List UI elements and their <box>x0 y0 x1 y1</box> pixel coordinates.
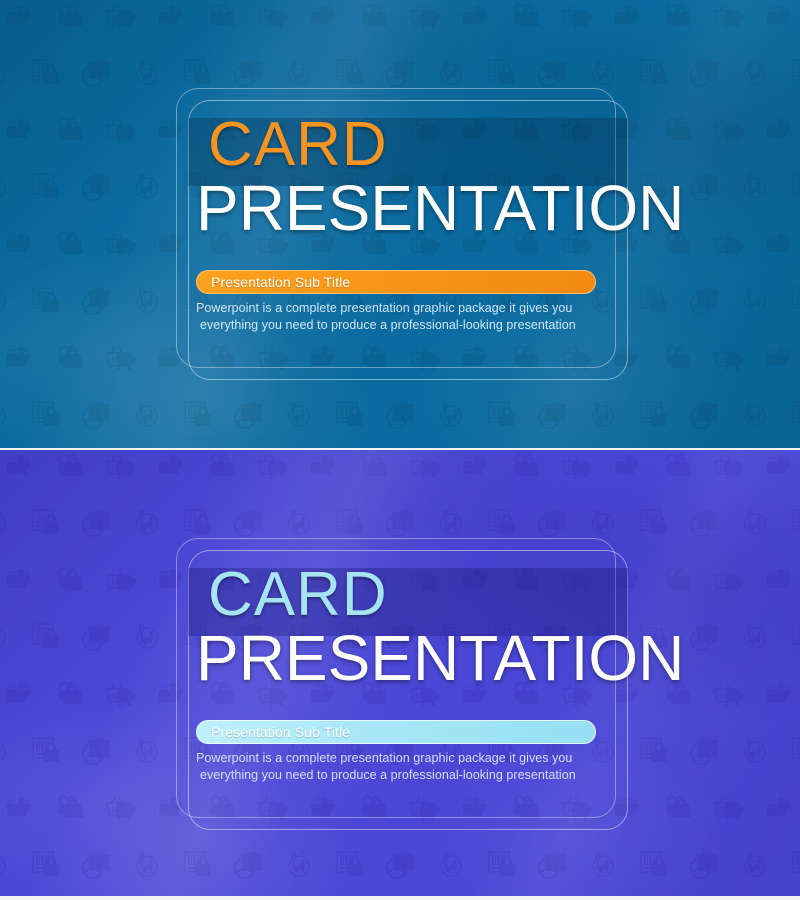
sub-title-label: Presentation Sub Title <box>197 275 350 289</box>
body-paragraph: Powerpoint is a complete presentation gr… <box>196 300 596 334</box>
sub-title-pill[interactable]: Presentation Sub Title <box>196 720 596 744</box>
slide-purple[interactable]: CARD PRESENTATION Presentation Sub Title… <box>0 450 800 900</box>
preview-stage: CARD PRESENTATION Presentation Sub Title… <box>0 0 800 900</box>
sub-title-label: Presentation Sub Title <box>197 725 350 739</box>
body-line-2: everything you need to produce a profess… <box>196 767 596 784</box>
body-paragraph: Powerpoint is a complete presentation gr… <box>196 750 596 784</box>
page-title: PRESENTATION <box>196 176 684 240</box>
body-line-2: everything you need to produce a profess… <box>196 317 596 334</box>
bottom-edge-divider <box>0 896 800 900</box>
body-line-1: Powerpoint is a complete presentation gr… <box>196 300 596 317</box>
page-title: PRESENTATION <box>196 626 684 690</box>
slide-content: CARD PRESENTATION Presentation Sub Title… <box>188 550 708 830</box>
slide-blue[interactable]: CARD PRESENTATION Presentation Sub Title… <box>0 0 800 450</box>
body-line-1: Powerpoint is a complete presentation gr… <box>196 750 596 767</box>
slide-divider <box>0 448 800 450</box>
slide-content: CARD PRESENTATION Presentation Sub Title… <box>188 100 708 380</box>
sub-title-pill[interactable]: Presentation Sub Title <box>196 270 596 294</box>
title-accent-word: CARD <box>208 114 388 176</box>
title-accent-word: CARD <box>208 564 388 626</box>
